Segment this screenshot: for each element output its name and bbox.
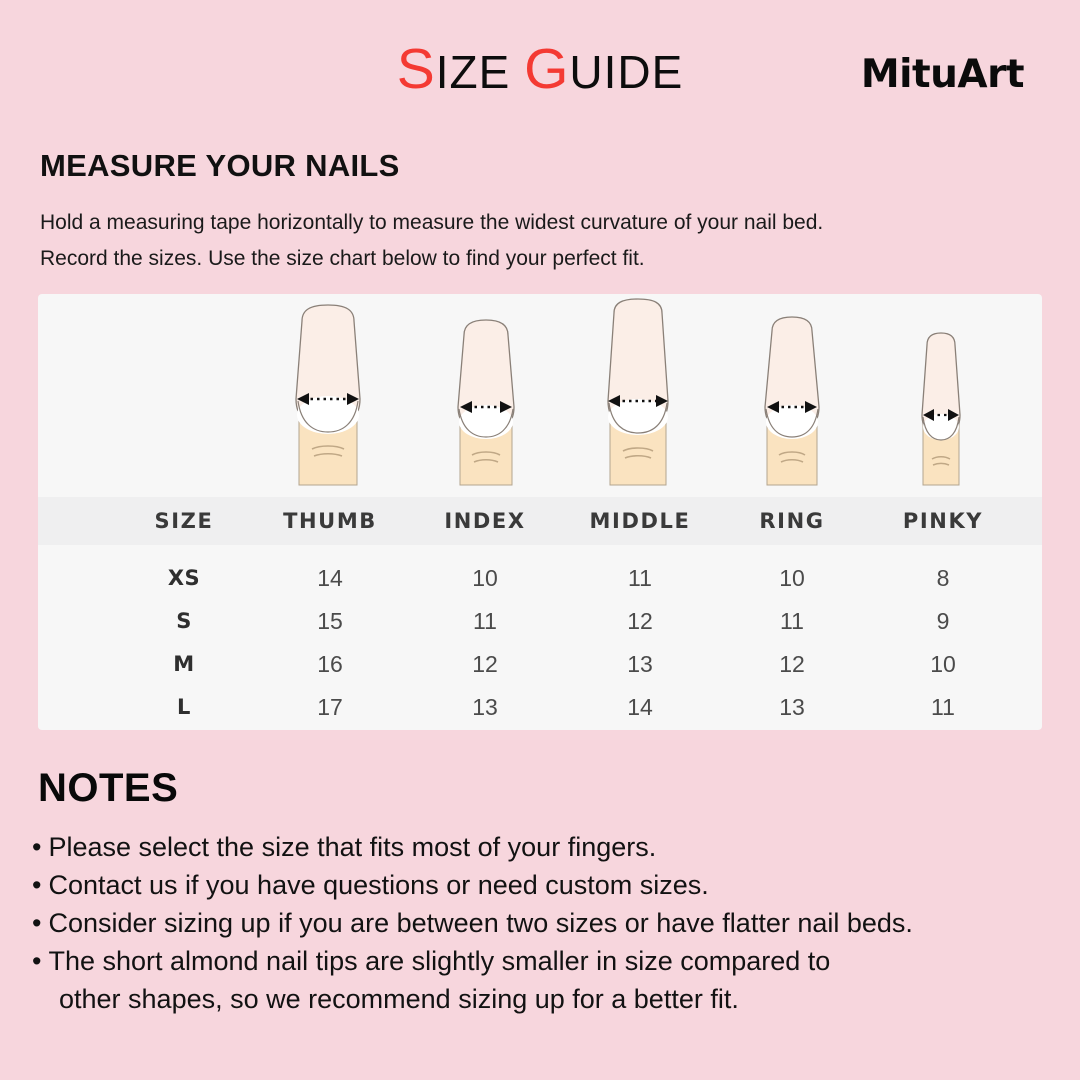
- size-table-body: XS 14 10 11 10 8 S 15 11 12 11 9 M 16 12…: [38, 557, 1042, 729]
- size-table-header: SIZE THUMB INDEX MIDDLE RING PINKY: [38, 497, 1042, 545]
- note-item-4: •The short almond nail tips are slightly…: [32, 942, 1062, 980]
- table-row: XS 14 10 11 10 8: [38, 557, 1042, 600]
- bullet-icon: •: [32, 946, 41, 976]
- table-row: S 15 11 12 11 9: [38, 600, 1042, 643]
- notes-heading: NOTES: [38, 766, 178, 811]
- measure-heading: MEASURE YOUR NAILS: [40, 148, 400, 184]
- note-text-2: Contact us if you have questions or need…: [48, 870, 708, 900]
- title-text-uide: UIDE: [569, 46, 683, 98]
- notes-list: •Please select the size that fits most o…: [32, 828, 1062, 1018]
- nail-illustration-ring: [732, 297, 852, 497]
- column-header-pinky: PINKY: [843, 497, 1042, 545]
- page-header: SIZE GUIDE MituArt: [0, 0, 1080, 124]
- measure-description: Hold a measuring tape horizontally to me…: [40, 205, 1040, 277]
- title-text-ize: IZE: [436, 46, 524, 98]
- nail-illustration-thumb: [268, 297, 388, 497]
- cell-pinky-m: 10: [843, 643, 1042, 686]
- bullet-icon: •: [32, 908, 41, 938]
- nail-illustration-pinky: [881, 297, 1001, 497]
- table-row: M 16 12 13 12 10: [38, 643, 1042, 686]
- measure-description-line-1: Hold a measuring tape horizontally to me…: [40, 205, 1040, 241]
- title-letter-g: G: [524, 37, 569, 101]
- brand-logo: MituArt: [861, 52, 1024, 97]
- cell-pinky-l: 11: [843, 686, 1042, 729]
- nail-illustration-index: [426, 297, 546, 497]
- nail-illustration-middle: [578, 297, 698, 497]
- note-item-3: •Consider sizing up if you are between t…: [32, 904, 1062, 942]
- note-item-1: •Please select the size that fits most o…: [32, 828, 1062, 866]
- table-row: L 17 13 14 13 11: [38, 686, 1042, 729]
- size-chart-panel: SIZE THUMB INDEX MIDDLE RING PINKY XS 14…: [38, 294, 1042, 730]
- cell-pinky-xs: 8: [843, 557, 1042, 600]
- title-letter-s: S: [397, 37, 436, 101]
- cell-pinky-s: 9: [843, 600, 1042, 643]
- bullet-icon: •: [32, 832, 41, 862]
- bullet-icon: •: [32, 870, 41, 900]
- note-text-1: Please select the size that fits most of…: [48, 832, 656, 862]
- note-item-2: •Contact us if you have questions or nee…: [32, 866, 1062, 904]
- note-text-3: Consider sizing up if you are between tw…: [48, 908, 912, 938]
- note-text-4: The short almond nail tips are slightly …: [48, 946, 830, 976]
- nail-diagram-row: [38, 294, 1042, 497]
- note-item-4-continuation: other shapes, so we recommend sizing up …: [32, 980, 1062, 1018]
- measure-description-line-2: Record the sizes. Use the size chart bel…: [40, 241, 1040, 277]
